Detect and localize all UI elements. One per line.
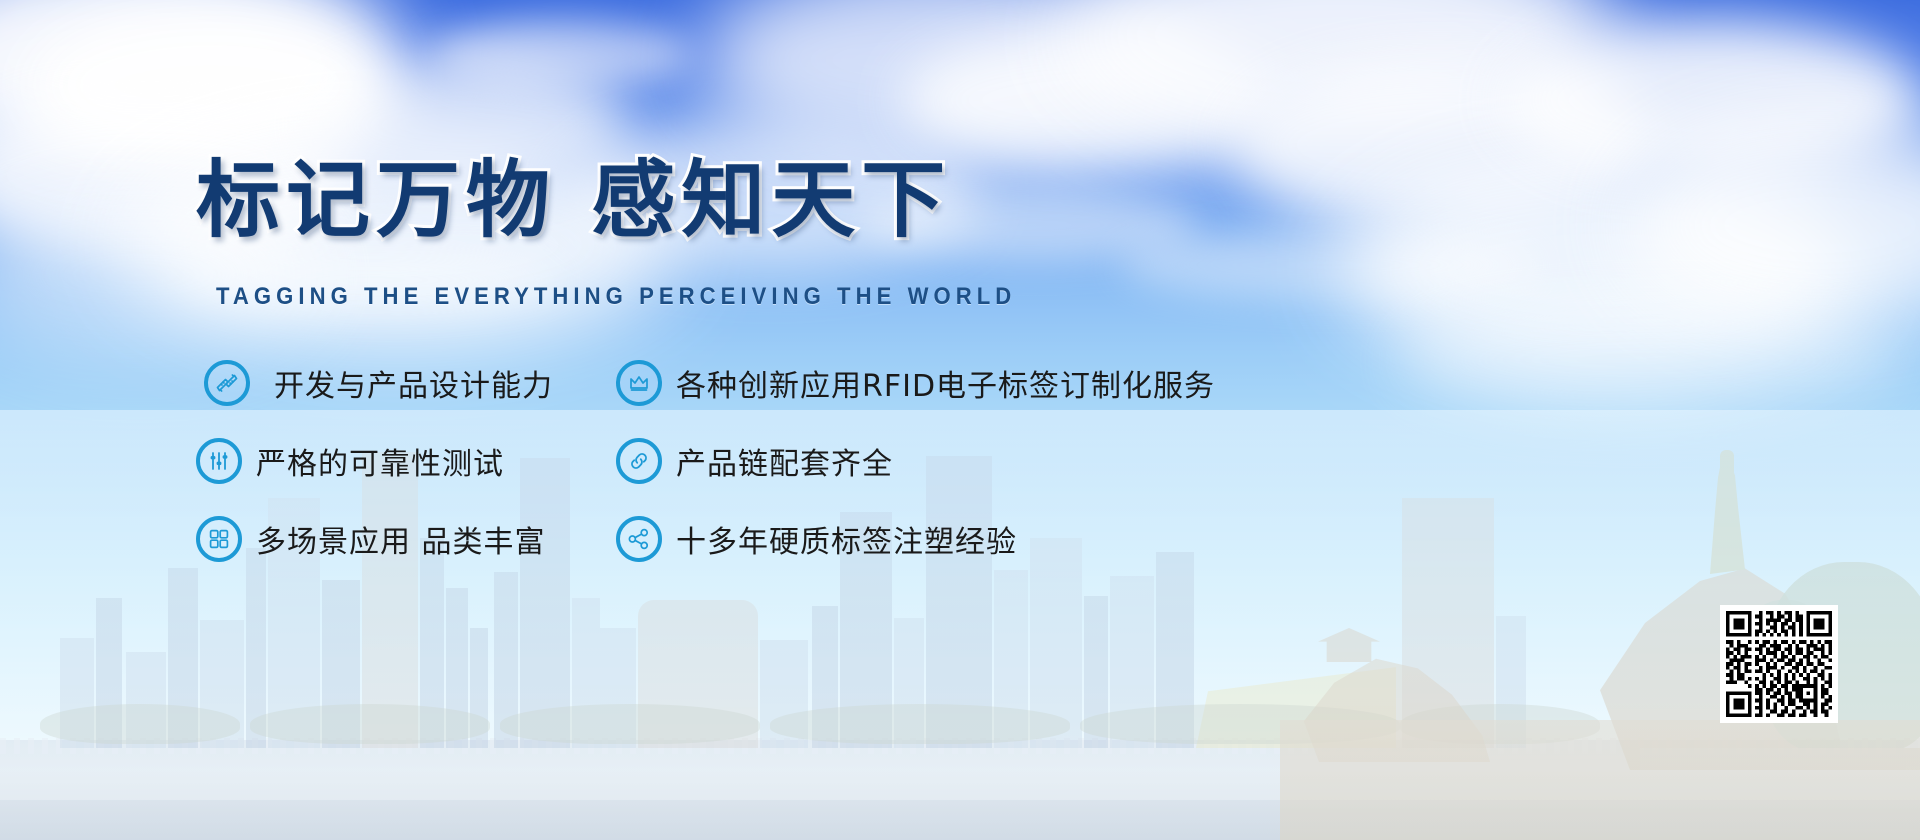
feature-item: 多场景应用 品类丰富: [196, 508, 616, 570]
feature-list: 开发与产品设计能力 各种创新应用RFID电子标签订制化服务: [196, 352, 1296, 586]
feature-item: 十多年硬质标签注塑经验: [616, 508, 1296, 570]
feature-item: 开发与产品设计能力: [196, 352, 616, 414]
ruler-pencil-icon: [204, 360, 250, 406]
feature-label: 开发与产品设计能力: [274, 361, 553, 405]
share-nodes-icon: [616, 516, 662, 562]
sliders-icon: [196, 438, 242, 484]
feature-label: 产品链配套齐全: [676, 439, 893, 483]
page-title: 标记万物 感知天下: [196, 158, 951, 242]
feature-label: 十多年硬质标签注塑经验: [676, 517, 1017, 561]
crown-icon: [616, 360, 662, 406]
feature-label: 严格的可靠性测试: [256, 439, 504, 483]
link-icon: [616, 438, 662, 484]
feature-item: 各种创新应用RFID电子标签订制化服务: [616, 352, 1296, 414]
grid-squares-icon: [196, 516, 242, 562]
feature-item: 严格的可靠性测试: [196, 430, 616, 492]
feature-label: 多场景应用 品类丰富: [256, 517, 546, 561]
qr-code[interactable]: [1720, 605, 1838, 723]
feature-item: 产品链配套齐全: [616, 430, 1296, 492]
hero-banner: 标记万物 感知天下 TAGGING THE EVERYTHING PERCEIV…: [0, 0, 1920, 840]
feature-label: 各种创新应用RFID电子标签订制化服务: [676, 361, 1215, 405]
page-subtitle: TAGGING THE EVERYTHING PERCEIVING THE WO…: [216, 283, 1016, 311]
